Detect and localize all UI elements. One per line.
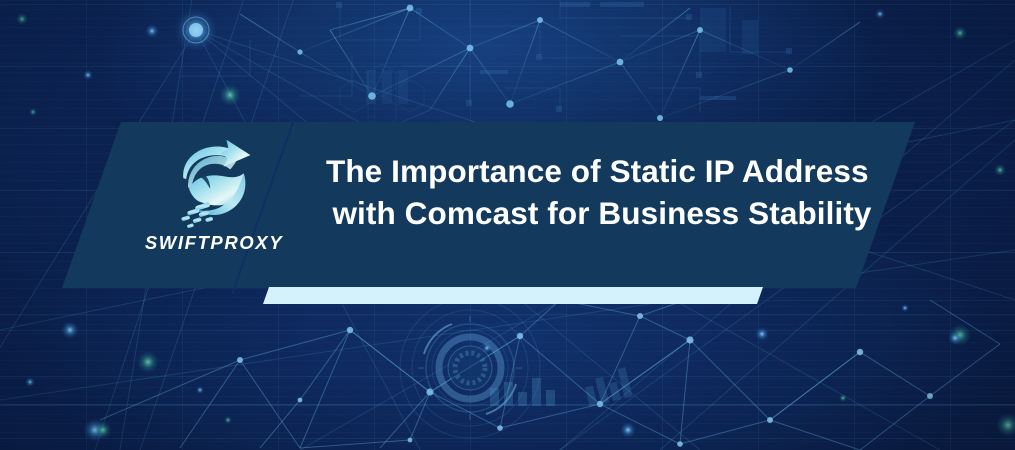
- page-title-line-2: with Comcast for Business Stability: [326, 192, 886, 234]
- accent-underbar: [263, 287, 763, 304]
- page-title: The Importance of Static IP Address with…: [326, 150, 886, 234]
- page-title-line-1: The Importance of Static IP Address: [326, 150, 886, 192]
- swift-s-arrow-icon: [166, 134, 262, 230]
- brand-logo: SWIFTPROXY: [128, 134, 300, 270]
- brand-name: SWIFTPROXY: [145, 232, 283, 254]
- blog-hero-banner: SWIFTPROXY The Importance of Static IP A…: [0, 0, 1015, 450]
